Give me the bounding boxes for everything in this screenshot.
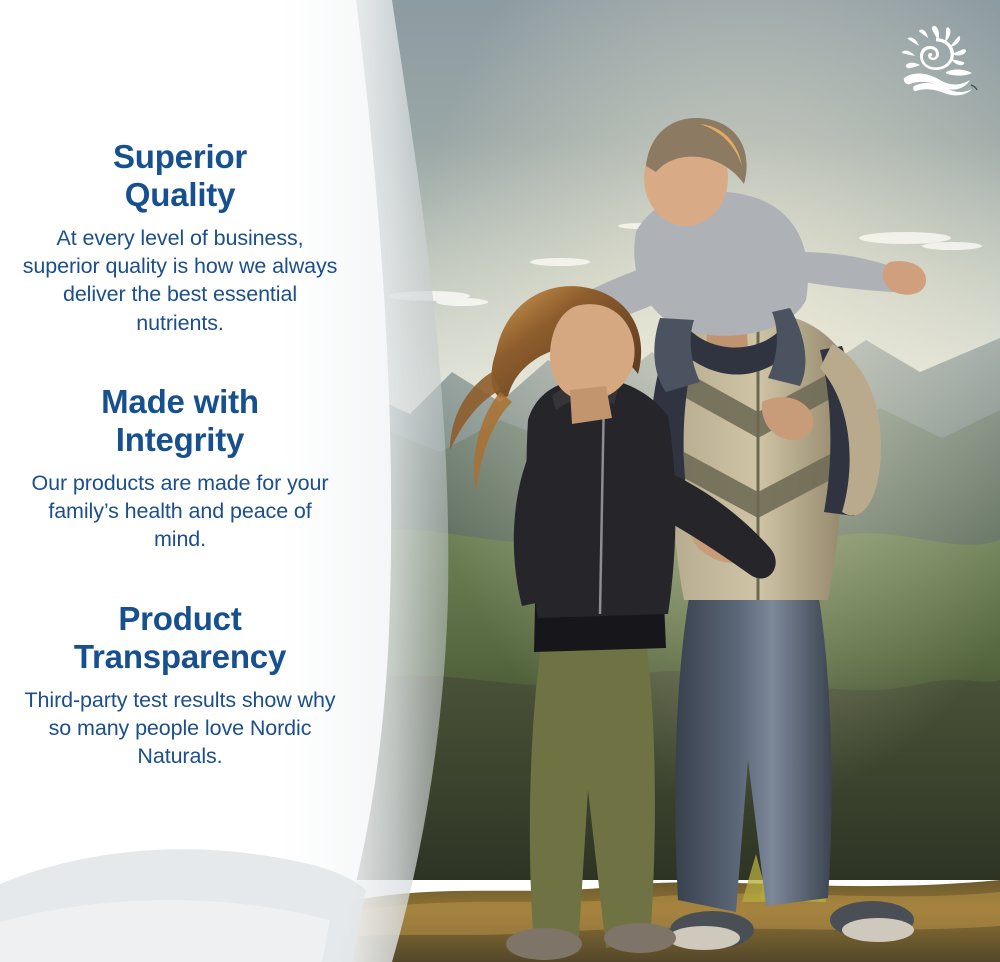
sun-and-waves-logo-icon <box>894 24 980 96</box>
value-heading-line-1: Superior <box>113 138 247 175</box>
value-block-product-transparency: ProductTransparency Third-party test res… <box>0 600 360 771</box>
value-body: At every level of business, superior qua… <box>0 224 360 338</box>
value-block-made-with-integrity: Made withIntegrity Our products are made… <box>0 383 360 554</box>
value-heading-line-2: Integrity <box>116 421 244 458</box>
promo-banner: SuperiorQuality At every level of busine… <box>0 0 1000 962</box>
value-heading-line-2: Transparency <box>74 638 286 675</box>
value-body: Our products are made for your family’s … <box>0 469 360 554</box>
value-heading-line-1: Made with <box>101 383 259 420</box>
value-heading: Made withIntegrity <box>0 383 360 460</box>
woman-shoe-right <box>604 923 676 953</box>
value-heading: SuperiorQuality <box>0 138 360 215</box>
value-body: Third-party test results show why so man… <box>0 686 360 771</box>
logo-accent-stroke <box>971 85 977 90</box>
value-heading-line-1: Product <box>118 600 241 637</box>
value-block-superior-quality: SuperiorQuality At every level of busine… <box>0 138 360 337</box>
values-column: SuperiorQuality At every level of busine… <box>0 0 360 962</box>
woman-shoe-left <box>506 928 582 960</box>
value-heading: ProductTransparency <box>0 600 360 677</box>
value-heading-line-2: Quality <box>125 176 235 213</box>
nordic-naturals-logo <box>894 24 980 96</box>
